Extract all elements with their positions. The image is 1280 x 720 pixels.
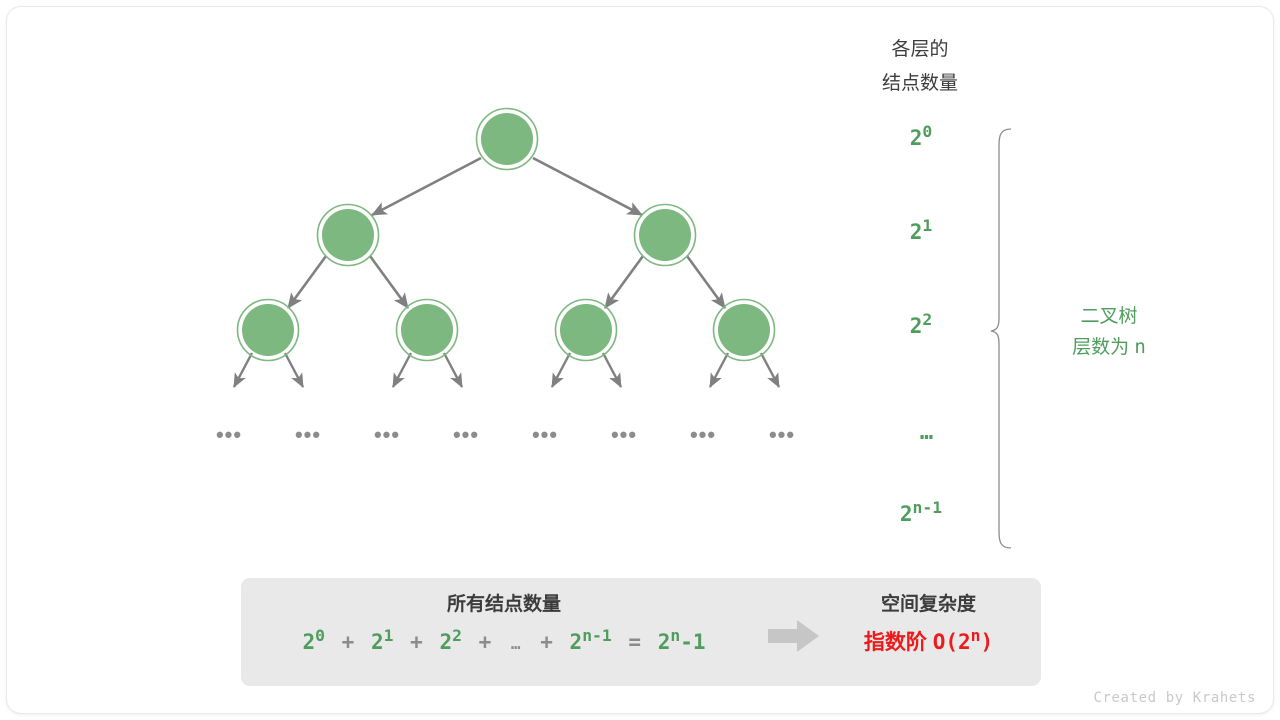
summary-left: 所有结点数量 20 + 21 + 22 + … + 2n-1 = 2n-1 bbox=[249, 592, 759, 658]
tree-node bbox=[477, 109, 538, 170]
tree-node bbox=[635, 205, 696, 266]
leaf-ellipsis: ••• bbox=[525, 430, 565, 440]
formula-ellipsis: … bbox=[508, 634, 524, 653]
brace-annotation: 二叉树 层数为 n bbox=[1034, 302, 1184, 363]
complexity-prefix: 指数阶 bbox=[864, 631, 927, 654]
level-count-last: 2n-1 bbox=[861, 502, 981, 526]
implies-arrow-icon bbox=[768, 619, 820, 653]
brace-annotation-prefix: 层数为 bbox=[1072, 337, 1129, 358]
formula-plus: + bbox=[536, 630, 557, 654]
leaf-ellipsis: ••• bbox=[367, 430, 407, 440]
level-count-ellipsis: … bbox=[867, 420, 987, 445]
leaf-ellipsis: ••• bbox=[209, 430, 249, 440]
summary-complexity: 指数阶 O(2n) bbox=[821, 628, 1036, 657]
tree-nodes bbox=[238, 109, 775, 361]
formula-term-2: 22 bbox=[439, 630, 462, 654]
formula-result: 2n-1 bbox=[658, 630, 706, 654]
credit-text: Created by Krahets bbox=[1093, 690, 1256, 706]
brace-annotation-line2: 层数为 n bbox=[1034, 332, 1184, 363]
tree-leaf-stubs bbox=[234, 353, 779, 387]
leaf-ellipsis: ••• bbox=[604, 430, 644, 440]
brace-annotation-line1: 二叉树 bbox=[1034, 302, 1184, 332]
summary-right: 空间复杂度 指数阶 O(2n) bbox=[821, 592, 1036, 657]
summary-formula: 20 + 21 + 22 + … + 2n-1 = 2n-1 bbox=[249, 628, 759, 658]
column-header-line1: 各层的 bbox=[840, 33, 1000, 67]
level-count-2: 22 bbox=[861, 314, 981, 338]
formula-term-1: 21 bbox=[371, 630, 394, 654]
level-count-1: 21 bbox=[861, 220, 981, 244]
brace-annotation-var: n bbox=[1134, 336, 1145, 358]
tree-node bbox=[318, 205, 379, 266]
formula-last-term: 2n-1 bbox=[570, 630, 612, 654]
leaf-ellipsis: ••• bbox=[683, 430, 723, 440]
summary-panel: 所有结点数量 20 + 21 + 22 + … + 2n-1 = 2n-1 空间… bbox=[241, 578, 1041, 686]
summary-right-title: 空间复杂度 bbox=[821, 592, 1036, 618]
tree-node bbox=[556, 300, 617, 361]
formula-equals: = bbox=[624, 630, 645, 654]
level-count-0: 20 bbox=[861, 126, 981, 150]
tree-node bbox=[714, 300, 775, 361]
tree-node bbox=[397, 300, 458, 361]
leaf-ellipsis: ••• bbox=[288, 430, 328, 440]
formula-term-0: 20 bbox=[302, 630, 325, 654]
column-header: 各层的 结点数量 bbox=[840, 33, 1000, 101]
leaf-ellipsis: ••• bbox=[762, 430, 802, 440]
formula-plus: + bbox=[338, 630, 359, 654]
tree-node bbox=[238, 300, 299, 361]
level-count-brace bbox=[991, 129, 1011, 548]
formula-plus: + bbox=[475, 630, 496, 654]
summary-left-title: 所有结点数量 bbox=[249, 592, 759, 618]
diagram-canvas: 各层的 结点数量 20 21 22 … 2n-1 ••• ••• ••• •••… bbox=[0, 0, 1280, 720]
column-header-line2: 结点数量 bbox=[840, 67, 1000, 101]
formula-plus: + bbox=[406, 630, 427, 654]
leaf-ellipsis: ••• bbox=[446, 430, 486, 440]
complexity-value: O(2n) bbox=[933, 630, 993, 654]
